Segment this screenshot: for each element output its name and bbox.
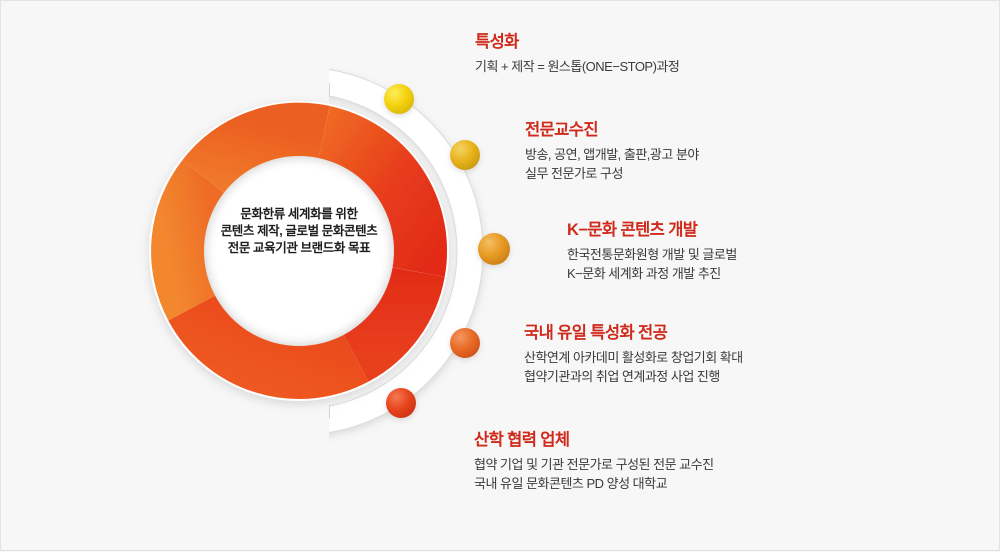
radial-diagram: 문화한류 세계화를 위한 콘텐츠 제작, 글로벌 문화콘텐츠 전문 교육기관 브… [1,1,521,552]
callout-line: 기획 + 제작 = 원스톱(ONE−STOP)과정 [475,57,679,76]
callout-line: 방송, 공연, 앱개발, 출판,광고 분야 [525,145,699,164]
callout-faculty: 전문교수진 방송, 공연, 앱개발, 출판,광고 분야 실무 전문가로 구성 [525,116,699,183]
callout-title: 산학 협력 업체 [474,426,714,450]
callout-line: 산학연계 아카데미 활성화로 창업기회 확대 [524,348,743,367]
node-dot-2[interactable] [450,140,480,170]
node-dot-4[interactable] [450,328,480,358]
node-dot-3[interactable] [478,233,510,265]
callout-k-culture-content: K−문화 콘텐츠 개발 한국전통문화원형 개발 및 글로벌 K−문화 세계화 과… [567,216,737,283]
callout-industry-partners: 산학 협력 업체 협약 기업 및 기관 전문가로 구성된 전문 교수진 국내 유… [474,426,714,493]
callout-specialization: 특성화 기획 + 제작 = 원스톱(ONE−STOP)과정 [475,28,679,76]
infographic-stage: 문화한류 세계화를 위한 콘텐츠 제작, 글로벌 문화콘텐츠 전문 교육기관 브… [1,1,1000,552]
center-label: 문화한류 세계화를 위한 콘텐츠 제작, 글로벌 문화콘텐츠 전문 교육기관 브… [191,206,407,257]
center-label-line-3: 전문 교육기관 브랜드화 목표 [191,240,407,257]
callout-unique-major: 국내 유일 특성화 전공 산학연계 아카데미 활성화로 창업기회 확대 협약기관… [524,319,743,386]
callout-line: K−문화 세계화 과정 개발 추진 [567,264,737,283]
center-label-line-2: 콘텐츠 제작, 글로벌 문화콘텐츠 [191,223,407,240]
callout-line: 국내 유일 문화콘텐츠 PD 양성 대학교 [474,474,714,493]
callout-line: 한국전통문화원형 개발 및 글로벌 [567,245,737,264]
callout-title: K−문화 콘텐츠 개발 [567,216,737,240]
callout-line: 협약기관과의 취업 연계과정 사업 진행 [524,367,743,386]
callout-line: 협약 기업 및 기관 전문가로 구성된 전문 교수진 [474,455,714,474]
node-dot-5[interactable] [386,388,416,418]
callout-title: 전문교수진 [525,116,699,140]
node-dot-1[interactable] [384,84,414,114]
callout-line: 실무 전문가로 구성 [525,164,699,183]
callout-title: 특성화 [475,28,679,52]
center-label-line-1: 문화한류 세계화를 위한 [191,206,407,223]
diagram-svg [1,1,521,552]
callout-title: 국내 유일 특성화 전공 [524,319,743,343]
